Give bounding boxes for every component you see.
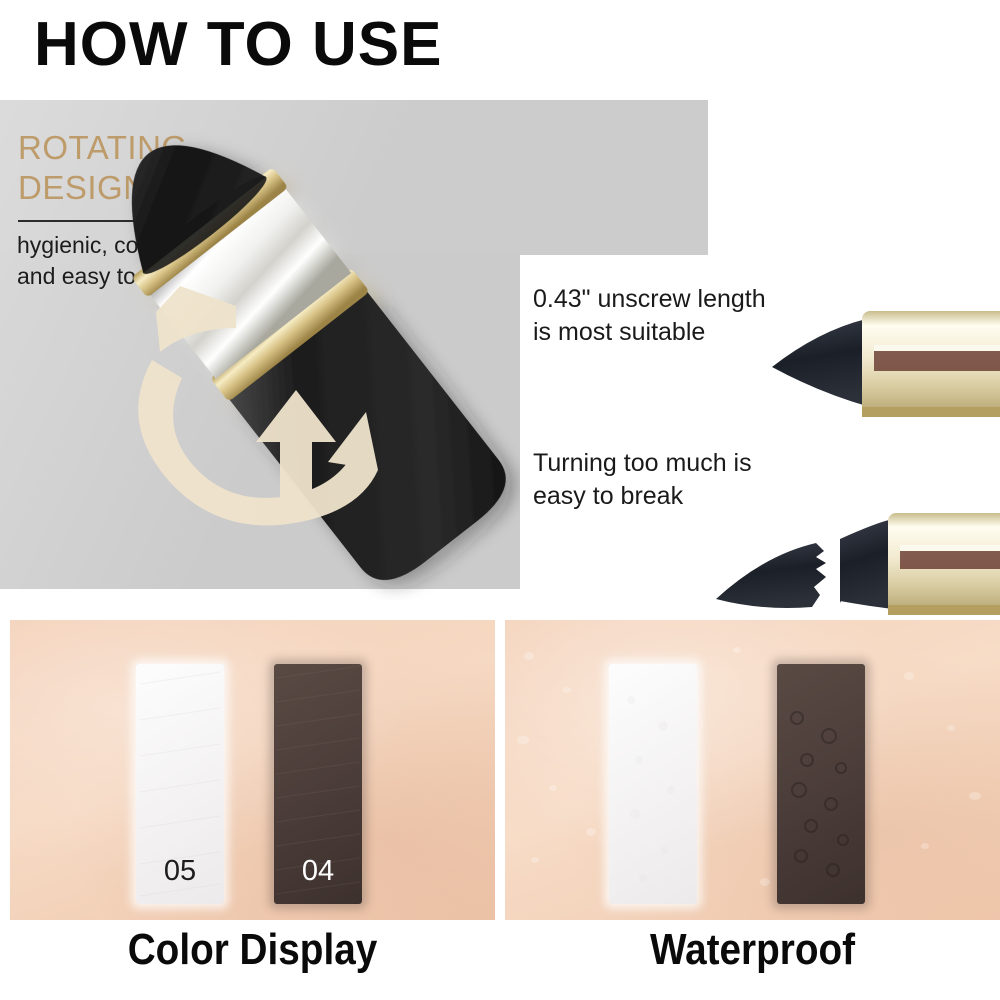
swatch-texture-wet-dark [777,664,865,904]
skin-background [10,620,495,920]
divider-rule [18,220,271,222]
barrel-stripe-broken [900,551,1000,569]
rotating-design-subtext: hygienic, compact and easy to carry [17,230,317,291]
swatch-texture-wet-white [609,664,697,904]
swatch-white-waterproof [609,664,697,904]
swatch-label-04: 04 [274,857,362,886]
callout-a-line1: 0.43" unscrew length [533,285,766,313]
swatch-panel-waterproof [505,620,1000,920]
barrel-gold-edge [862,407,1000,417]
gray-panel-bottom [0,253,520,589]
callout-b-line1: Turning too much is [533,449,752,477]
rotating-heading-line1: ROTATING [18,129,188,166]
swatch-panel-color-display: 05 04 [10,620,495,920]
barrel-highlight-broken [900,545,1000,551]
barrel-gold-edge-broken [888,605,1000,615]
callout-b-line2: easy to break [533,482,683,510]
rotating-subtext-line1: hygienic, compact [17,232,201,258]
swatch-05: 05 [136,664,224,904]
pencil-tip-black [772,319,870,407]
barrel-highlight [874,345,1000,351]
pencil-intact-illustration [770,295,1000,425]
water-droplets-overlay [505,620,1000,920]
rotating-heading-line2: DESIGN [18,169,148,206]
rotating-subtext-line2: and easy to carry [17,263,193,289]
infographic-canvas: HOW TO USE ROTATING DESIGN hygienic, com… [0,0,1000,1000]
swatch-dark-waterproof [777,664,865,904]
page-title: HOW TO USE [34,14,442,76]
callout-a-line2: is most suitable [533,318,705,346]
caption-color-display: Color Display [39,925,466,975]
swatch-label-05: 05 [136,857,224,886]
barrel-stripe [874,351,1000,371]
swatch-04: 04 [274,664,362,904]
pencil-tip-stub [840,519,894,609]
broken-tip-fragment [716,543,826,608]
rotating-design-heading: ROTATING DESIGN [18,128,318,209]
caption-waterproof: Waterproof [535,925,971,975]
pencil-broken-illustration [712,495,1000,625]
